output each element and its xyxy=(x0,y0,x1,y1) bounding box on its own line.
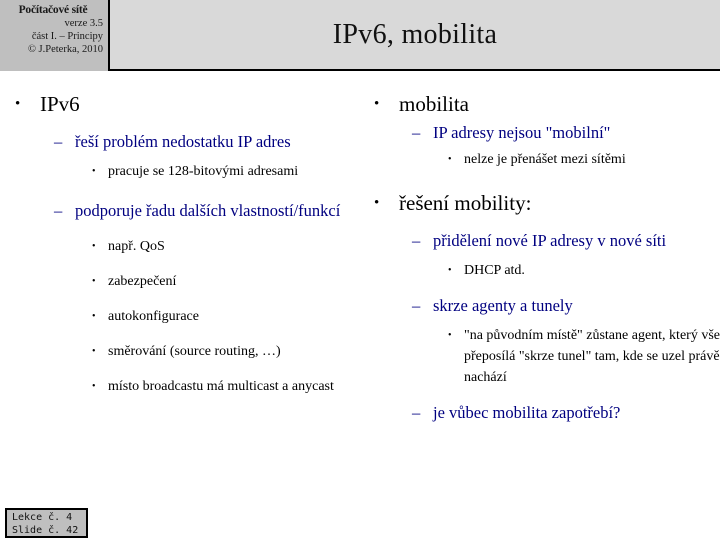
bullet-text: pracuje se 128-bitovými adresami xyxy=(108,161,360,182)
small-disc-bullet-icon: • xyxy=(448,260,464,281)
slide-title: IPv6, mobilita xyxy=(110,0,720,69)
slide-content: • IPv6 – řeší problém nedostatku IP adre… xyxy=(0,71,720,540)
bullet-item-l3: • autokonfigurace xyxy=(0,306,360,327)
dash-bullet-icon: – xyxy=(412,230,433,252)
bullet-item-l2: – je vůbec mobilita zapotřebí? xyxy=(360,402,720,424)
bullet-text: nelze je přenášet mezi sítěmi xyxy=(464,149,720,170)
bullet-text: "na původním místě" zůstane agent, který… xyxy=(464,325,720,388)
disc-bullet-icon: • xyxy=(374,91,399,117)
bullet-text: IPv6 xyxy=(40,91,360,117)
right-column: • mobilita – IP adresy nejsou "mobilní" … xyxy=(360,71,720,540)
bullet-item-l2: – IP adresy nejsou "mobilní" xyxy=(360,122,720,144)
slide-number-box: Lekce č. 4 Slide č. 42 xyxy=(5,508,88,538)
bullet-item-l1: • řešení mobility: xyxy=(360,190,720,216)
bullet-text: autokonfigurace xyxy=(108,306,360,327)
bullet-text: místo broadcastu má multicast a anycast xyxy=(108,376,360,397)
bullet-item-l2: – skrze agenty a tunely xyxy=(360,295,720,317)
left-column: • IPv6 – řeší problém nedostatku IP adre… xyxy=(0,71,360,540)
dash-bullet-icon: – xyxy=(412,122,433,144)
bullet-item-l3: • např. QoS xyxy=(0,236,360,257)
bullet-item-l1: • mobilita xyxy=(360,91,720,117)
small-disc-bullet-icon: • xyxy=(92,236,108,257)
bullet-item-l2: – řeší problém nedostatku IP adres xyxy=(0,131,360,153)
bullet-text: DHCP atd. xyxy=(464,260,720,281)
bullet-item-l3: • "na původním místě" zůstane agent, kte… xyxy=(360,325,720,388)
course-info-box: Počítačové sítě verze 3.5 část I. – Prin… xyxy=(0,0,110,71)
disc-bullet-icon: • xyxy=(15,91,40,117)
dash-bullet-icon: – xyxy=(412,295,433,317)
bullet-text: řešení mobility: xyxy=(399,190,720,216)
bullet-text: skrze agenty a tunely xyxy=(433,295,720,317)
small-disc-bullet-icon: • xyxy=(92,376,108,397)
bullet-text: IP adresy nejsou "mobilní" xyxy=(433,122,720,144)
bullet-item-l3: • DHCP atd. xyxy=(360,260,720,281)
bullet-text: přidělení nové IP adresy v nové síti xyxy=(433,230,720,252)
bullet-item-l3: • pracuje se 128-bitovými adresami xyxy=(0,161,360,182)
small-disc-bullet-icon: • xyxy=(448,325,464,346)
bullet-text: podporuje řadu dalších vlastností/funkcí xyxy=(75,200,360,222)
course-part: část I. – Principy xyxy=(3,30,103,43)
small-disc-bullet-icon: • xyxy=(92,341,108,362)
dash-bullet-icon: – xyxy=(54,131,75,153)
bullet-item-l1: • IPv6 xyxy=(0,91,360,117)
bullet-text: řeší problém nedostatku IP adres xyxy=(75,131,360,153)
small-disc-bullet-icon: • xyxy=(92,271,108,292)
bullet-item-l3: • zabezpečení xyxy=(0,271,360,292)
bullet-text: směrování (source routing, …) xyxy=(108,341,360,362)
bullet-text: mobilita xyxy=(399,91,720,117)
small-disc-bullet-icon: • xyxy=(448,149,464,170)
bullet-item-l2: – přidělení nové IP adresy v nové síti xyxy=(360,230,720,252)
lecture-number: Lekce č. 4 xyxy=(12,511,86,524)
small-disc-bullet-icon: • xyxy=(92,306,108,327)
disc-bullet-icon: • xyxy=(374,190,399,216)
small-disc-bullet-icon: • xyxy=(92,161,108,182)
course-version: verze 3.5 xyxy=(3,17,103,30)
bullet-text: např. QoS xyxy=(108,236,360,257)
bullet-item-l2: – podporuje řadu dalších vlastností/funk… xyxy=(0,200,360,222)
course-title: Počítačové sítě xyxy=(3,3,103,17)
course-copyright: © J.Peterka, 2010 xyxy=(3,43,103,56)
slide-number: Slide č. 42 xyxy=(12,524,86,537)
dash-bullet-icon: – xyxy=(54,200,75,222)
bullet-item-l3: • směrování (source routing, …) xyxy=(0,341,360,362)
dash-bullet-icon: – xyxy=(412,402,433,424)
bullet-text: zabezpečení xyxy=(108,271,360,292)
bullet-item-l3: • nelze je přenášet mezi sítěmi xyxy=(360,149,720,170)
bullet-item-l3: • místo broadcastu má multicast a anycas… xyxy=(0,376,360,397)
bullet-text: je vůbec mobilita zapotřebí? xyxy=(433,402,720,424)
slide-header: Počítačové sítě verze 3.5 část I. – Prin… xyxy=(0,0,720,71)
